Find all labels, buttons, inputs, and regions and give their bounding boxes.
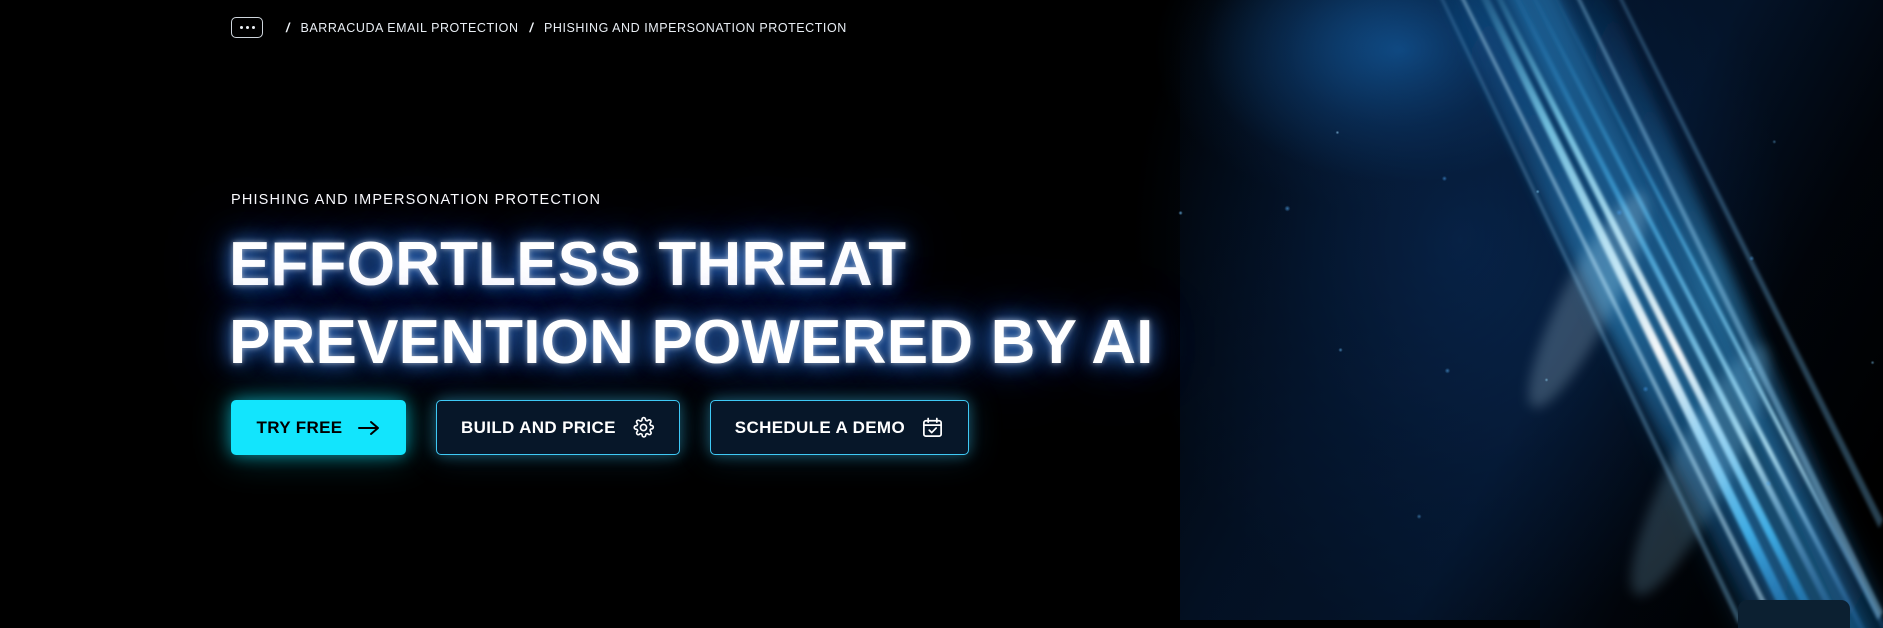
arrow-right-icon (358, 420, 380, 436)
headline-line-1: EFFORTLESS THREAT (229, 226, 1154, 304)
ellipsis-dot (246, 26, 249, 29)
breadcrumb-item-current: PHISHING AND IMPERSONATION PROTECTION (544, 21, 847, 35)
ellipsis-dot (240, 26, 243, 29)
hero-eyebrow: PHISHING AND IMPERSONATION PROTECTION (231, 192, 601, 208)
breadcrumb: / BARRACUDA EMAIL PROTECTION / PHISHING … (231, 17, 847, 38)
schedule-a-demo-label: SCHEDULE A DEMO (735, 418, 905, 438)
breadcrumb-item-barracuda-email-protection[interactable]: BARRACUDA EMAIL PROTECTION (300, 21, 518, 35)
hero-banner: / BARRACUDA EMAIL PROTECTION / PHISHING … (0, 0, 1883, 628)
cta-button-group: TRY FREE BUILD AND PRICE (231, 400, 969, 455)
chat-launcher[interactable] (1738, 600, 1850, 628)
schedule-a-demo-button[interactable]: SCHEDULE A DEMO (710, 400, 969, 455)
build-and-price-label: BUILD AND PRICE (461, 418, 616, 438)
gear-icon (632, 416, 655, 439)
bottom-edge-strip (0, 620, 1540, 628)
page-title: EFFORTLESS THREAT PREVENTION POWERED BY … (229, 226, 1154, 382)
breadcrumb-separator: / (275, 21, 300, 35)
build-and-price-button[interactable]: BUILD AND PRICE (436, 400, 680, 455)
headline-line-2: PREVENTION POWERED BY AI (229, 304, 1154, 382)
try-free-label: TRY FREE (257, 418, 343, 438)
ellipsis-dot (252, 26, 255, 29)
calendar-check-icon (921, 416, 944, 439)
try-free-button[interactable]: TRY FREE (231, 400, 406, 455)
ellipsis-icon[interactable] (231, 17, 263, 38)
breadcrumb-separator: / (519, 21, 544, 35)
